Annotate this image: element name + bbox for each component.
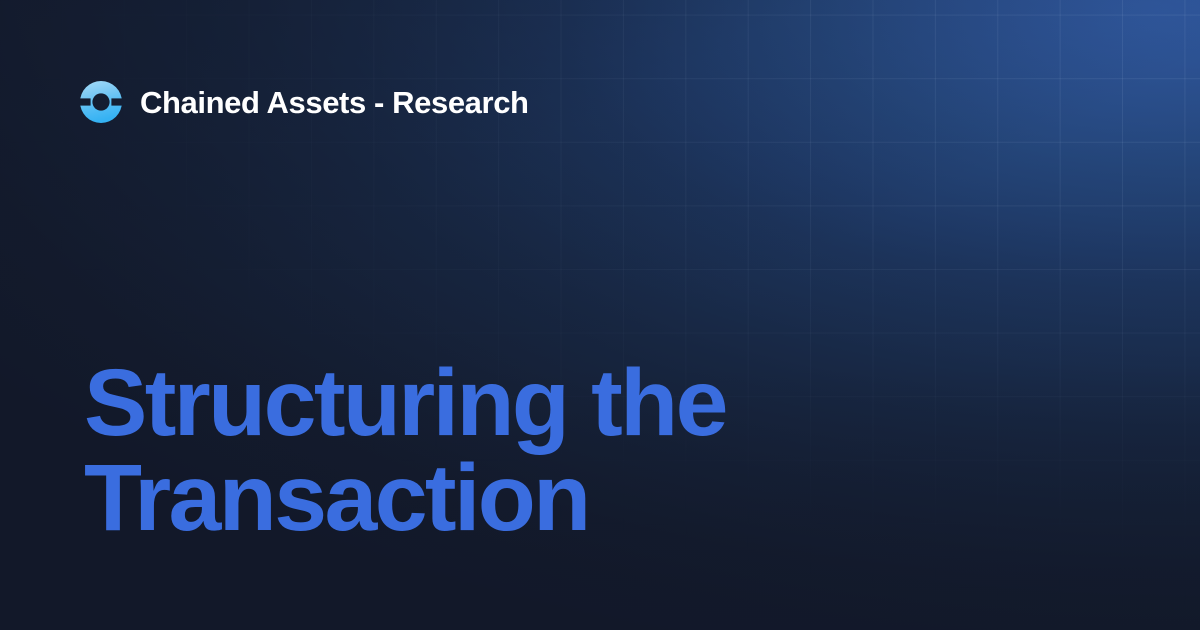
page-title-line-1: Structuring the [84,356,924,451]
chained-ring-icon [80,81,122,123]
page-title: Structuring the Transaction [84,356,924,546]
share-card: Chained Assets - Research Structuring th… [0,0,1200,630]
page-title-line-2: Transaction [84,451,924,546]
brand-name: Chained Assets - Research [140,87,529,118]
brand-lockup: Chained Assets - Research [80,81,529,123]
